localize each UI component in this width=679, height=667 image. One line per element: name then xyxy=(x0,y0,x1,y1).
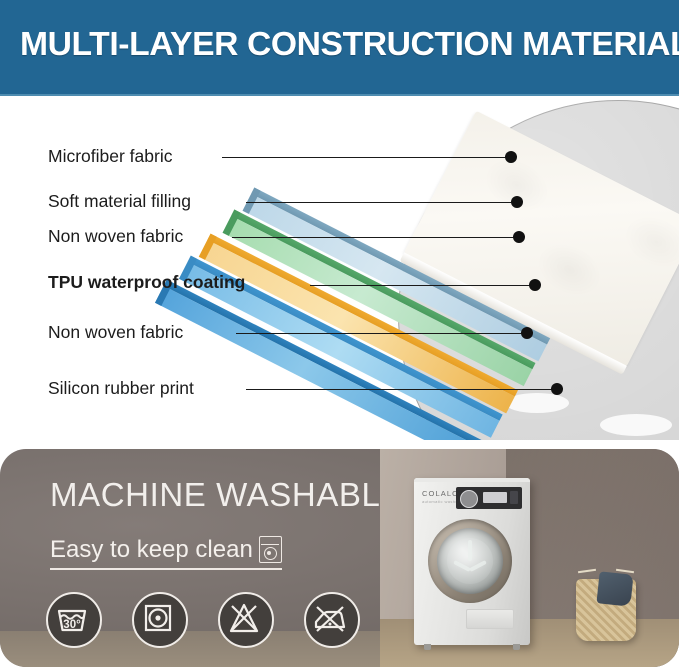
washer-display xyxy=(483,492,507,503)
leader-dot-5 xyxy=(521,327,533,339)
header-banner: MULTI-LAYER CONSTRUCTION MATERIAL xyxy=(0,0,679,96)
washer-detergent-drawer xyxy=(466,609,514,629)
washer-control-panel xyxy=(456,487,522,509)
leader-dot-4 xyxy=(529,279,541,291)
leader-dot-2 xyxy=(511,196,523,208)
layer-label-tpu-waterproof-coating: TPU waterproof coating xyxy=(48,272,245,293)
drum-fin-right xyxy=(469,560,487,572)
washing-machine-icon xyxy=(259,536,282,563)
leader-line-3 xyxy=(232,237,520,238)
washer-control-panel-line xyxy=(261,539,279,545)
care-symbols-row: 30° xyxy=(46,592,360,648)
leader-line-1 xyxy=(222,157,512,158)
washer-program-knob xyxy=(460,490,478,508)
leader-line-4 xyxy=(310,285,536,286)
laundry-basket xyxy=(576,579,636,641)
washer-brand-sublabel: automatic washer xyxy=(422,499,460,504)
washer-door-glyph xyxy=(264,547,277,560)
page-title: MULTI-LAYER CONSTRUCTION MATERIAL xyxy=(20,25,673,63)
leader-dot-3 xyxy=(513,231,525,243)
leader-dot-1 xyxy=(505,151,517,163)
leader-line-6 xyxy=(246,389,558,390)
washer-foot-right xyxy=(513,644,520,650)
washer-indicator-lights xyxy=(510,491,518,504)
layer-label-silicon-rubber-print: Silicon rubber print xyxy=(48,378,194,399)
washing-machine-photo: COLALO automatic washer xyxy=(380,449,679,667)
washer-top-panel xyxy=(414,478,530,482)
layer-label-non-woven-fabric-bottom: Non woven fabric xyxy=(48,322,183,343)
washer-foot-left xyxy=(424,644,431,650)
wash-30-degrees-icon: 30° xyxy=(46,592,102,648)
easy-to-keep-clean-text: Easy to keep clean xyxy=(50,536,253,564)
leader-line-5 xyxy=(236,333,528,334)
drum-fin-left xyxy=(453,560,471,572)
construction-diagram: Microfiber fabric Soft material filling … xyxy=(0,96,679,440)
machine-washable-title: MACHINE WASHABLE xyxy=(50,476,403,514)
leader-line-2 xyxy=(246,202,518,203)
basket-cloth xyxy=(596,571,633,606)
washer-door-ring xyxy=(428,519,512,603)
do-not-bleach-icon xyxy=(218,592,274,648)
washer-drum xyxy=(447,538,493,584)
infographic-page: MULTI-LAYER CONSTRUCTION MATERIAL xyxy=(0,0,679,667)
washing-machine-body: COLALO automatic washer xyxy=(414,478,530,645)
layer-label-soft-material-filling: Soft material filling xyxy=(48,191,191,212)
wash-temperature-label: 30° xyxy=(63,619,81,631)
do-not-iron-icon xyxy=(304,592,360,648)
washer-door-glass xyxy=(437,528,503,594)
layer-label-non-woven-fabric-top: Non woven fabric xyxy=(48,226,183,247)
drum-fin-top xyxy=(468,540,472,561)
circle-highlight-ellipse-2 xyxy=(600,414,672,436)
easy-to-keep-clean-group: Easy to keep clean xyxy=(50,536,282,570)
tumble-dry-icon xyxy=(132,592,188,648)
washer-brand-label: COLALO xyxy=(422,489,459,498)
layer-label-microfiber-fabric: Microfiber fabric xyxy=(48,146,172,167)
leader-dot-6 xyxy=(551,383,563,395)
